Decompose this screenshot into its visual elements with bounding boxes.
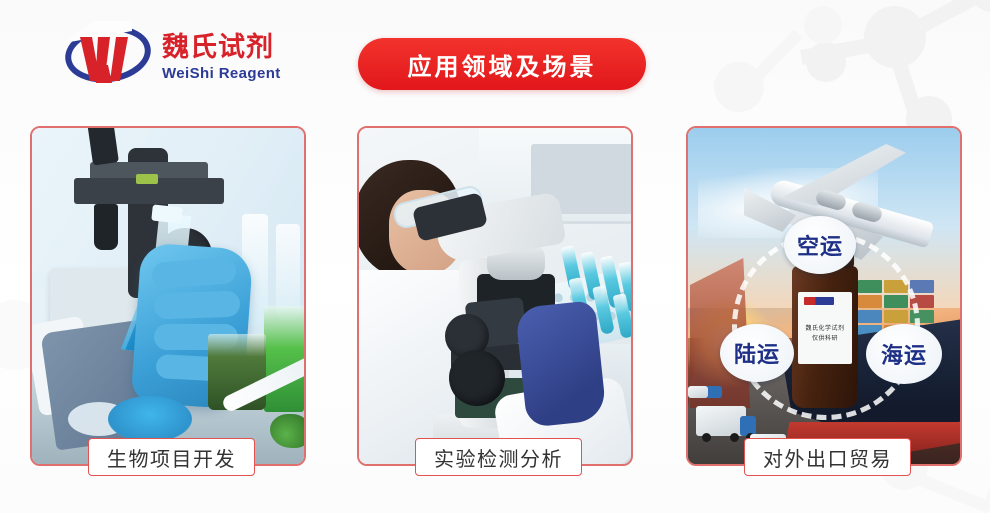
brand-logo[interactable]: 魏氏试剂 WeiShi Reagent: [62, 18, 322, 96]
card-lab-testing[interactable]: [357, 126, 633, 466]
card-label-lab-testing[interactable]: 实验检测分析: [415, 438, 582, 476]
page-header: 魏氏试剂 WeiShi Reagent 应用领域及场景: [0, 0, 990, 118]
badge-land-label: 陆运: [734, 337, 780, 369]
card-label-bio-project[interactable]: 生物项目开发: [88, 438, 255, 476]
card-export-trade[interactable]: 魏氏化学试剂 仅供科研 空运 陆运 海运: [686, 126, 962, 466]
brand-name-cn: 魏氏试剂: [162, 34, 281, 61]
photo-microscope-flask: [32, 128, 304, 464]
brand-text: 魏氏试剂 WeiShi Reagent: [162, 34, 281, 81]
section-title-banner: 应用领域及场景: [358, 38, 646, 90]
weishi-w-logo-icon: [62, 21, 154, 93]
card-label-export-trade[interactable]: 对外出口贸易: [744, 438, 911, 476]
bottle-label-line1: 魏氏化学试剂: [805, 325, 844, 333]
badge-sea-freight: 海运: [866, 324, 942, 384]
bottle-label-logo-icon: [804, 297, 834, 305]
badge-sea-label: 海运: [881, 338, 927, 370]
card-label-text: 对外出口贸易: [763, 443, 892, 472]
card-label-text: 生物项目开发: [107, 443, 236, 472]
bottle-label-line2: 仅供科研: [812, 335, 838, 343]
brand-name-en: WeiShi Reagent: [162, 66, 281, 81]
badge-land-freight: 陆运: [720, 324, 794, 382]
badge-air-freight: 空运: [784, 216, 856, 274]
card-label-text: 实验检测分析: [434, 443, 563, 472]
photo-scientist-microscope: [359, 128, 631, 464]
section-title-text: 应用领域及场景: [408, 47, 597, 82]
photo-logistics: 魏氏化学试剂 仅供科研 空运 陆运 海运: [688, 128, 960, 464]
card-bio-project[interactable]: [30, 126, 306, 466]
bottle-label: 魏氏化学试剂 仅供科研: [798, 292, 852, 364]
application-cards: 魏氏化学试剂 仅供科研 空运 陆运 海运: [0, 126, 990, 474]
cargo-truck: [696, 406, 746, 436]
badge-air-label: 空运: [797, 229, 843, 261]
